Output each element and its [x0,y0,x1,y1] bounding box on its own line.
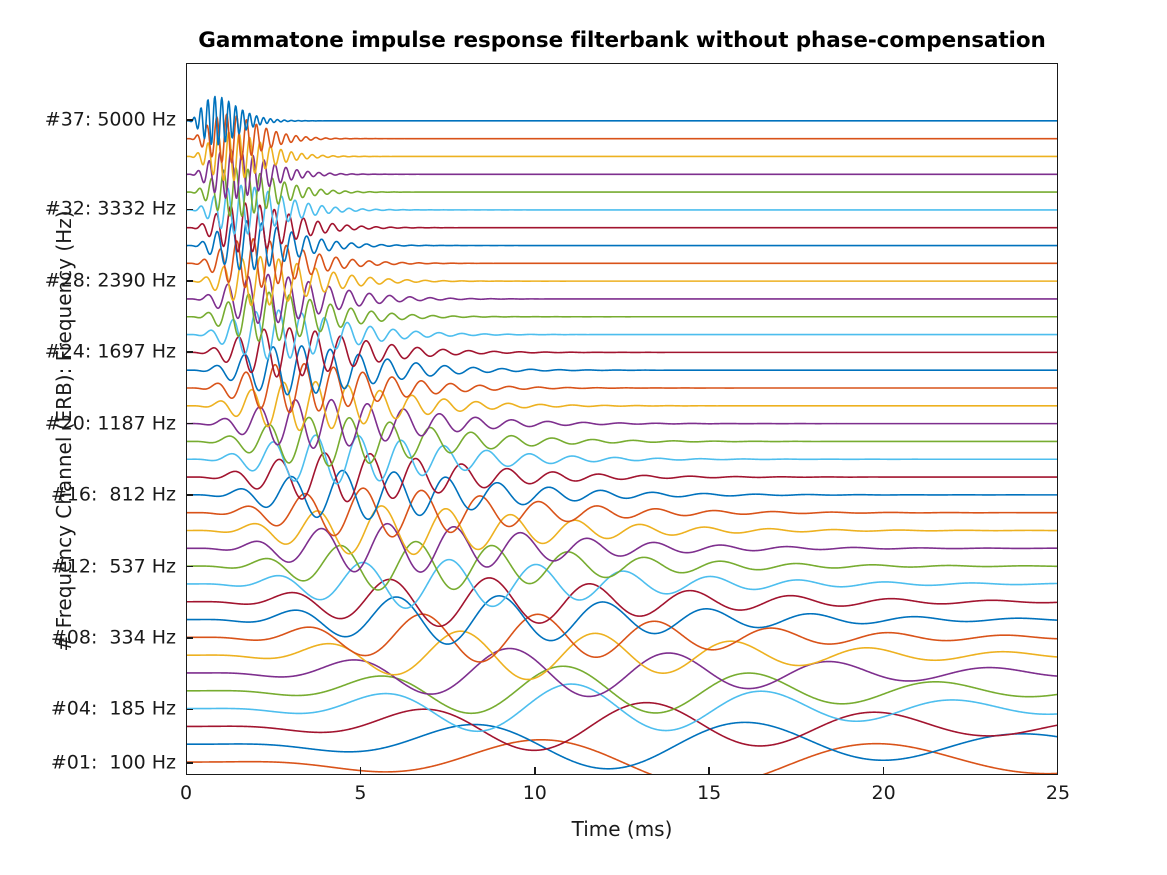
plot-area[interactable] [186,63,1058,775]
trace-ch08 [187,614,1057,662]
chart-title: Gammatone impulse response filterbank wi… [186,28,1058,53]
x-tick-label-0: 0 [180,784,192,803]
trace-ch05 [187,666,1057,713]
figure-canvas: Gammatone impulse response filterbank wi… [0,0,1167,875]
x-tick-label-20: 20 [872,784,896,803]
y-axis-label: # Frequency Channel (ERB): Frequency (Hz… [52,75,76,787]
trace-ch12 [187,542,1057,590]
trace-ch06 [187,649,1057,697]
x-tick-label-25: 25 [1046,784,1070,803]
x-tick-label-10: 10 [523,784,547,803]
x-axis-label: Time (ms) [186,817,1058,841]
x-tick-label-5: 5 [354,784,366,803]
trace-ch01 [187,740,1057,774]
x-tick-label-15: 15 [697,784,721,803]
waveform-traces [187,64,1057,774]
